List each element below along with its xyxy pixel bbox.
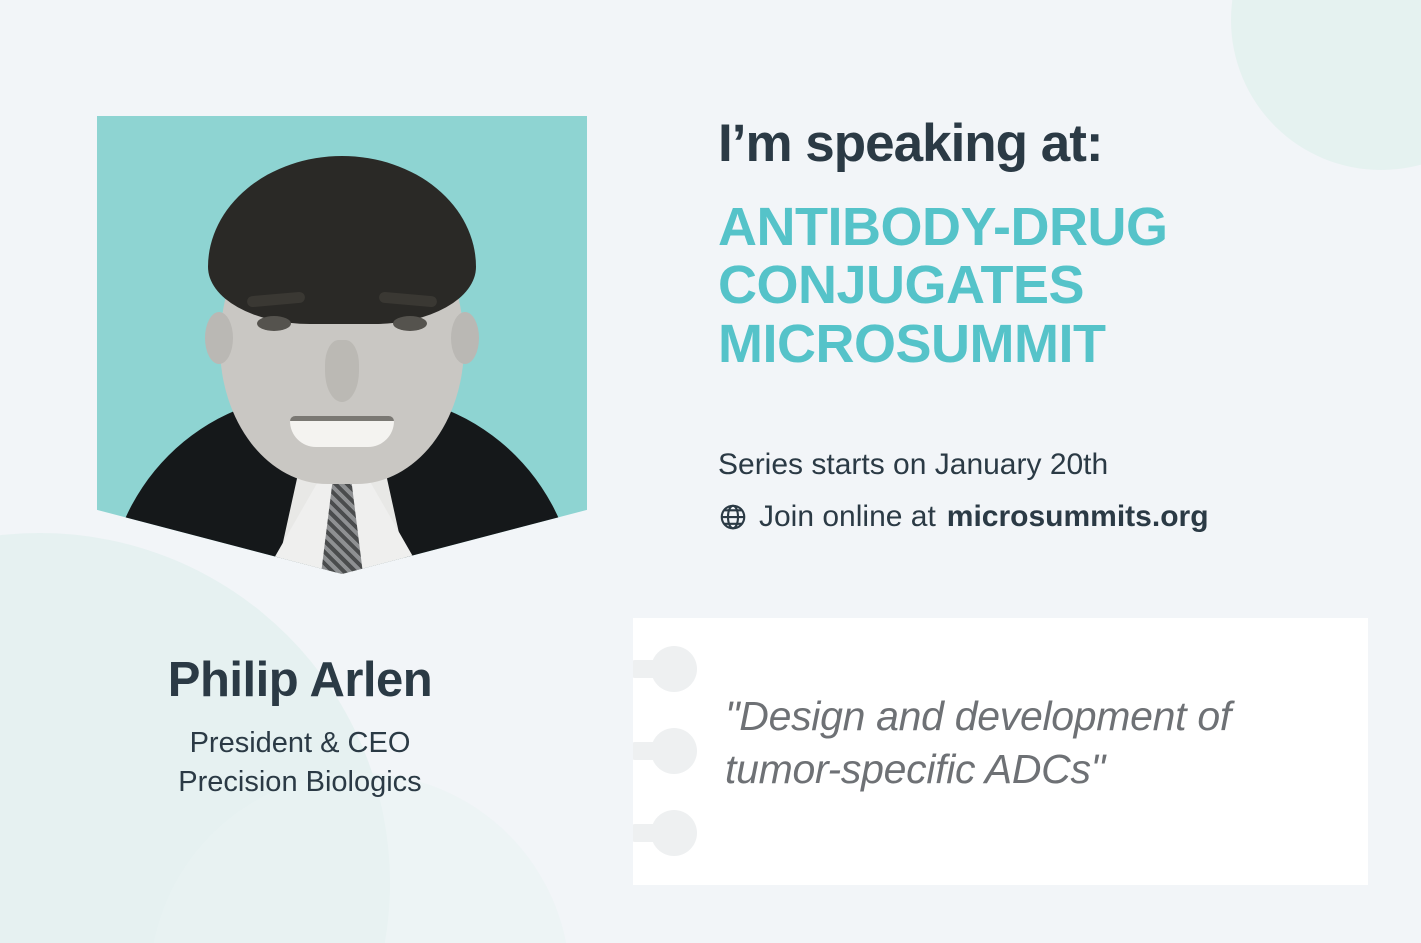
event-title: ANTIBODY-DRUG CONJUGATES MICROSUMMIT xyxy=(718,198,1338,373)
speaker-title: President & CEO xyxy=(190,727,411,759)
talk-title-card: "Design and development of tumor-specifi… xyxy=(633,618,1368,885)
speaker-name: Philip Arlen xyxy=(0,655,600,706)
speaker-portrait-image xyxy=(97,116,587,574)
join-online-prefix: Join online at xyxy=(759,500,936,534)
speaker-announcement-poster: Philip Arlen President & CEO Precision B… xyxy=(0,0,1421,943)
portrait-ear-left xyxy=(205,312,233,364)
portrait-eye-right xyxy=(393,316,427,331)
globe-icon xyxy=(718,502,748,532)
portrait-eye-left xyxy=(257,316,291,331)
talk-title-quote: "Design and development of tumor-specifi… xyxy=(725,690,1335,797)
speaker-photo-frame xyxy=(97,116,587,574)
speaker-organization: Precision Biologics xyxy=(178,766,421,798)
series-start-date: Series starts on January 20th xyxy=(718,448,1108,482)
binder-ring-icon xyxy=(651,810,697,856)
join-online-url[interactable]: microsummits.org xyxy=(947,500,1209,534)
portrait-ear-right xyxy=(451,312,479,364)
join-online-line: Join online at microsummits.org xyxy=(718,500,1209,534)
portrait-smile-shape xyxy=(290,416,394,447)
speaker-role-block: President & CEO Precision Biologics xyxy=(0,724,600,801)
portrait-nose-shape xyxy=(325,340,359,402)
speaker-identity-block: Philip Arlen President & CEO Precision B… xyxy=(0,655,600,801)
speaker-column: Philip Arlen President & CEO Precision B… xyxy=(0,0,600,943)
binder-ring-icon xyxy=(651,728,697,774)
speaking-kicker: I’m speaking at: xyxy=(718,117,1103,170)
binder-ring-icon xyxy=(651,646,697,692)
